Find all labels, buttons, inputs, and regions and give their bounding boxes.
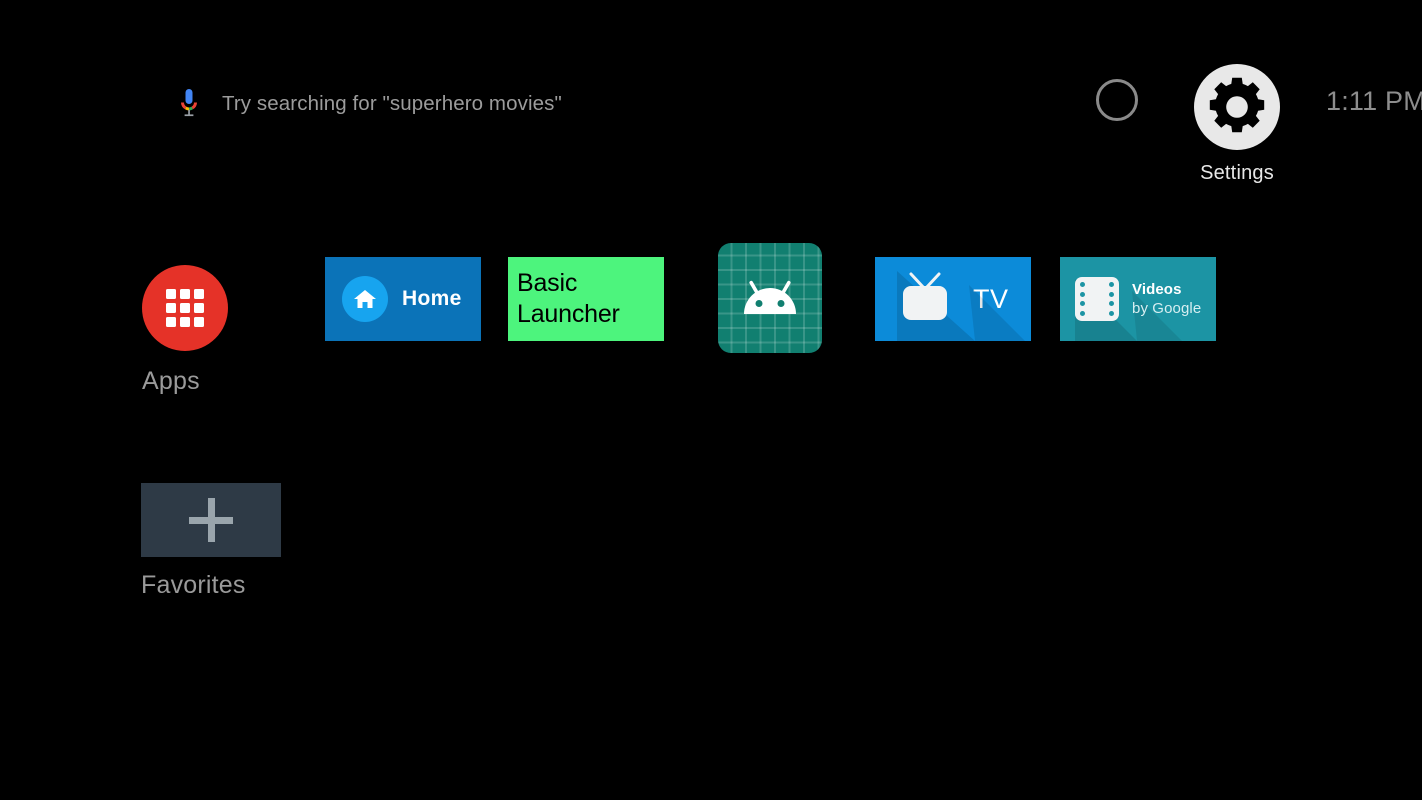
circle-outline-icon[interactable] bbox=[1096, 79, 1138, 121]
app-tile-videos[interactable]: Videos by Google bbox=[1060, 257, 1216, 341]
basic-launcher-line2: Launcher bbox=[517, 299, 664, 330]
film-strip-icon bbox=[1075, 277, 1119, 321]
home-icon bbox=[342, 276, 388, 322]
add-favorite-button[interactable] bbox=[141, 483, 281, 557]
app-tile-videos-subtitle: by Google bbox=[1132, 299, 1201, 318]
clock: 1:11 PM bbox=[1326, 86, 1422, 117]
search-hint-text: Try searching for "superhero movies" bbox=[222, 92, 562, 116]
favorites-label: Favorites bbox=[141, 571, 341, 600]
app-tile-videos-title: Videos bbox=[1132, 281, 1201, 299]
android-robot-icon bbox=[718, 243, 822, 353]
app-tile-tv-label: TV bbox=[973, 284, 1009, 315]
apps-item[interactable]: Apps bbox=[142, 265, 342, 396]
basic-launcher-line1: Basic bbox=[517, 268, 664, 299]
app-tile-home-label: Home bbox=[402, 287, 462, 311]
tv-icon bbox=[897, 270, 953, 329]
gear-icon[interactable] bbox=[1194, 64, 1280, 150]
app-tile-home[interactable]: Home bbox=[325, 257, 481, 341]
grid-glyph bbox=[166, 289, 204, 327]
apps-grid-icon[interactable] bbox=[142, 265, 228, 351]
settings-button[interactable]: Settings bbox=[1157, 64, 1317, 185]
search-bar[interactable]: Try searching for "superhero movies" bbox=[176, 86, 562, 122]
app-tile-android[interactable] bbox=[718, 243, 822, 353]
settings-label: Settings bbox=[1157, 162, 1317, 185]
google-mic-icon[interactable] bbox=[176, 87, 202, 121]
apps-label: Apps bbox=[142, 367, 342, 396]
app-tile-basic-launcher[interactable]: Basic Launcher bbox=[508, 257, 664, 341]
app-tile-tv[interactable]: TV bbox=[875, 257, 1031, 341]
status-cluster: Settings 1:11 PM bbox=[1080, 64, 1422, 194]
tv-launcher-home-screen: Try searching for "superhero movies" Set… bbox=[0, 0, 1422, 800]
favorites-item[interactable]: Favorites bbox=[141, 483, 341, 600]
videos-text-block: Videos by Google bbox=[1132, 281, 1201, 318]
film-perforations-left bbox=[1080, 282, 1085, 316]
film-perforations-right bbox=[1109, 282, 1114, 316]
plus-icon bbox=[189, 498, 233, 542]
